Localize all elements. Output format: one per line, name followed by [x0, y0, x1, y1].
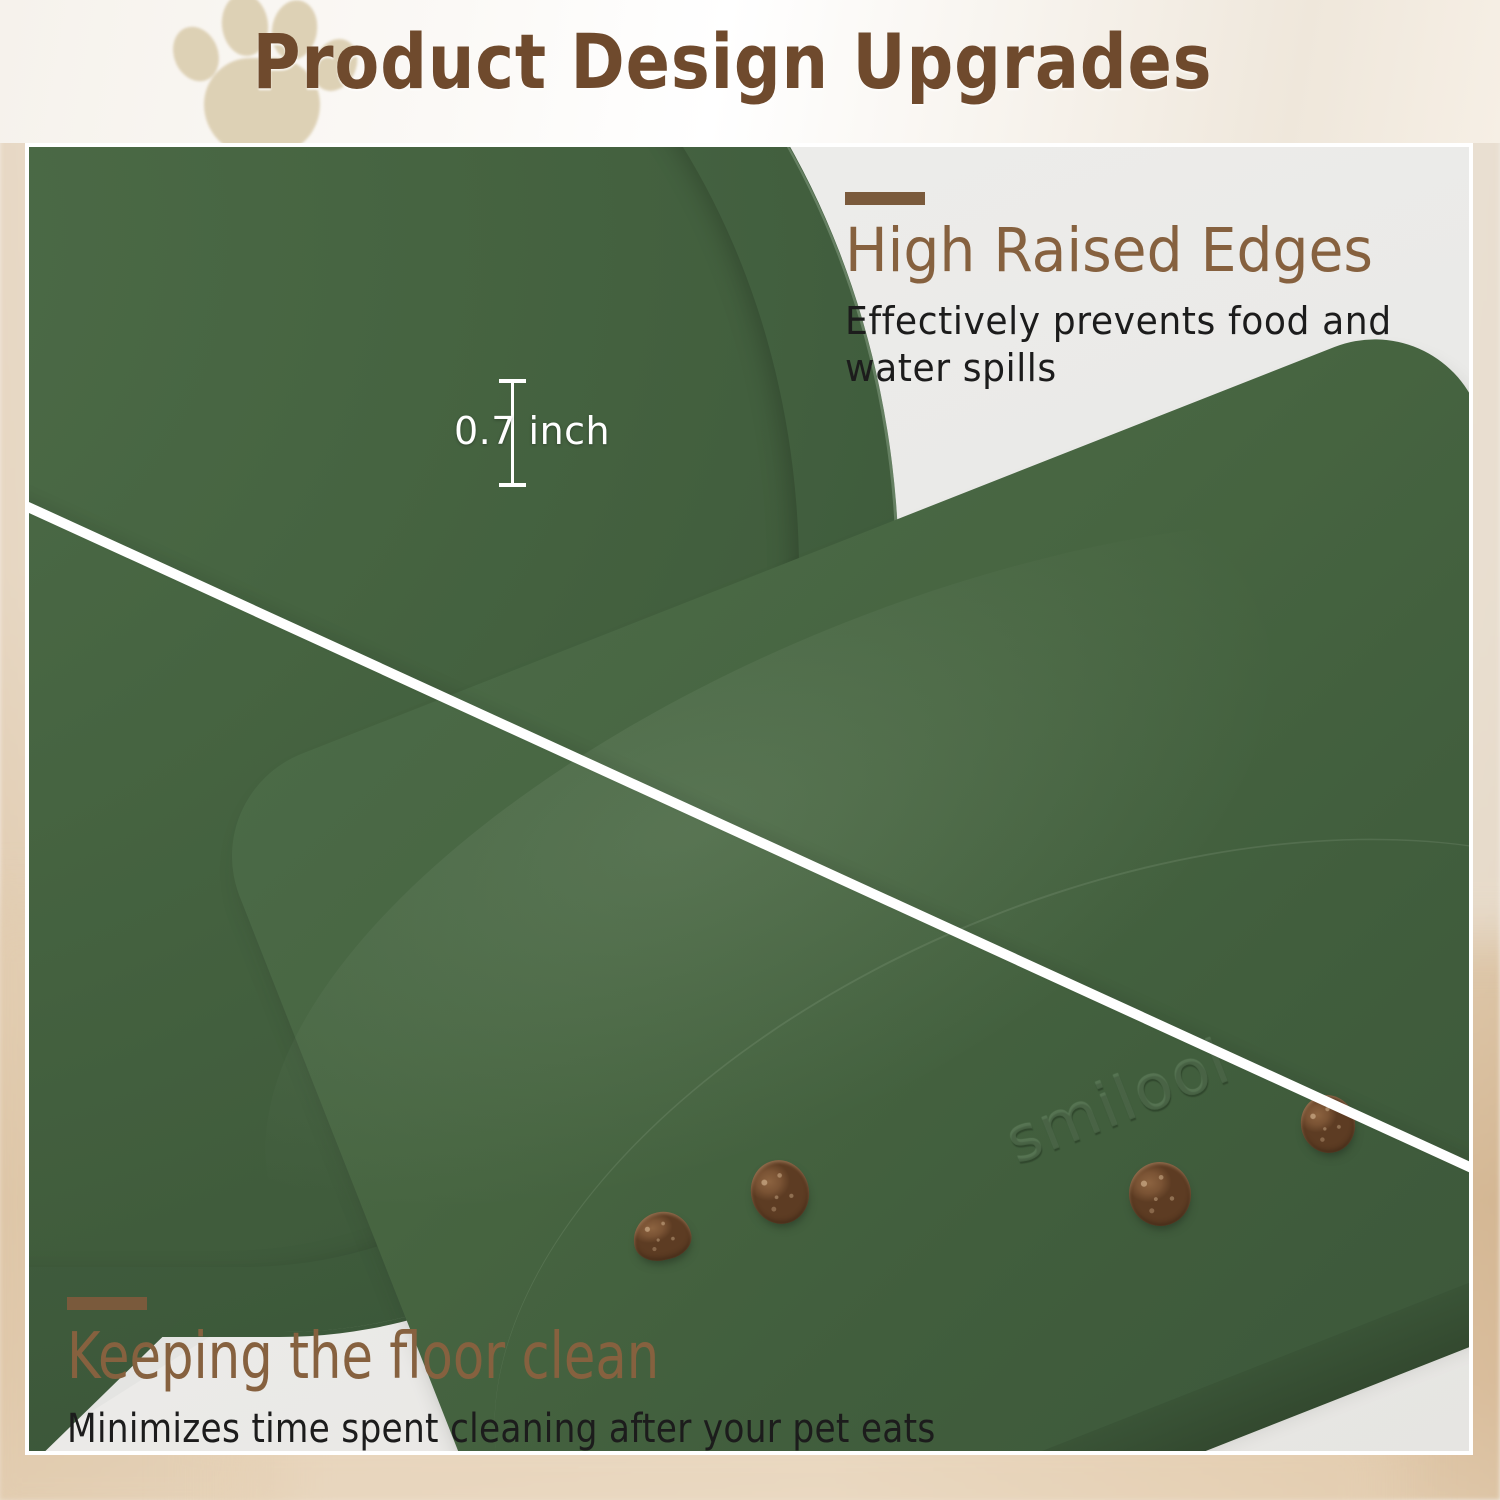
callout-keeping-floor-clean: Keeping the floor clean Minimizes time s…	[67, 1297, 1077, 1453]
callout-body: Effectively prevents food and water spil…	[845, 298, 1467, 391]
product-infographic: Product Design Upgrades	[0, 0, 1500, 1500]
callout-heading: Keeping the floor clean	[67, 1324, 875, 1391]
accent-bar	[845, 192, 925, 205]
page-title: Product Design Upgrades	[103, 24, 1363, 100]
dimension-cap-bottom	[499, 483, 526, 487]
dimension-cap-top	[499, 379, 526, 383]
header-band: Product Design Upgrades	[0, 0, 1500, 143]
dimension-label: 0.7 inch	[454, 409, 610, 453]
callout-body: Minimizes time spent cleaning after your…	[67, 1405, 936, 1454]
callout-heading: High Raised Edges	[845, 219, 1454, 282]
accent-bar	[67, 1297, 147, 1310]
callout-high-raised-edges: High Raised Edges Effectively prevents f…	[845, 192, 1500, 391]
